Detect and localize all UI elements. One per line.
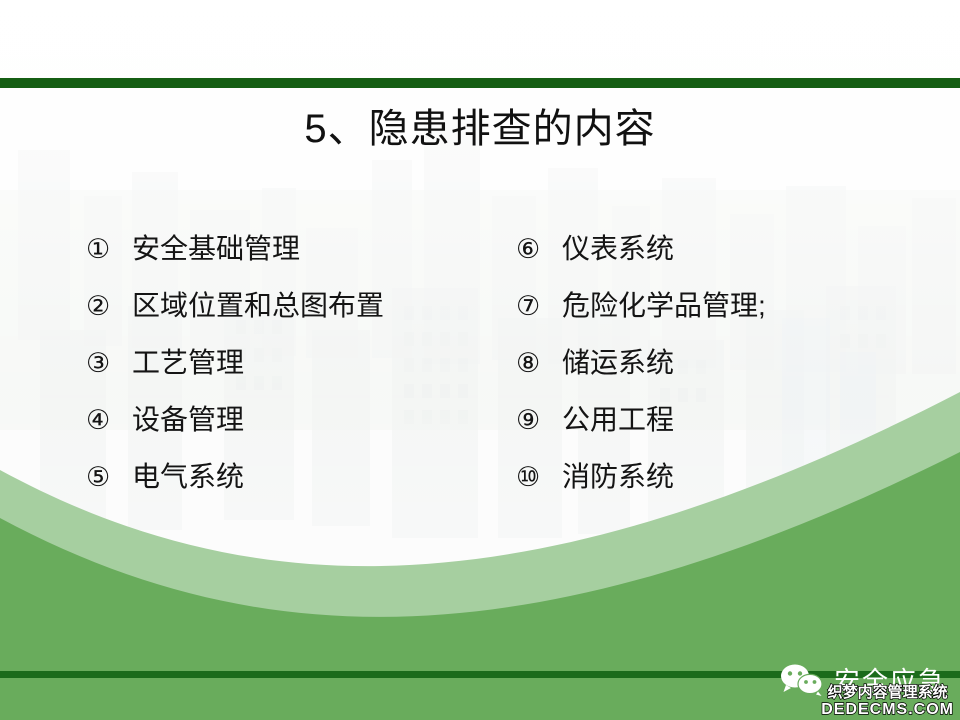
list-item: ④ 设备管理 <box>86 403 516 460</box>
list-item-label: 储运系统 <box>562 346 674 380</box>
list-item-marker: ① <box>86 232 132 266</box>
list-column-right: ⑥ 仪表系统 ⑦ 危险化学品管理; ⑧ 储运系统 ⑨ 公用工程 ⑩ 消防系统 <box>516 232 946 517</box>
list-item-label: 设备管理 <box>132 403 244 437</box>
list-item-label: 公用工程 <box>562 403 674 437</box>
list-item: ⑧ 储运系统 <box>516 346 946 403</box>
list-item-marker: ⑨ <box>516 403 562 437</box>
content-columns: ① 安全基础管理 ② 区域位置和总图布置 ③ 工艺管理 ④ 设备管理 ⑤ 电气系… <box>0 232 960 517</box>
list-item-marker: ⑧ <box>516 346 562 380</box>
list-item-label: 安全基础管理 <box>132 232 300 266</box>
top-divider-rule <box>0 78 960 88</box>
wechat-icon <box>778 663 826 697</box>
list-item-marker: ④ <box>86 403 132 437</box>
list-item-label: 仪表系统 <box>562 232 674 266</box>
list-item: ⑩ 消防系统 <box>516 460 946 517</box>
list-item: ③ 工艺管理 <box>86 346 516 403</box>
list-item-label: 危险化学品管理; <box>562 289 766 323</box>
list-item-label: 消防系统 <box>562 460 674 494</box>
list-item-label: 区域位置和总图布置 <box>132 289 384 323</box>
list-item: ② 区域位置和总图布置 <box>86 289 516 346</box>
slide-canvas: 5、隐患排查的内容 ① 安全基础管理 ② 区域位置和总图布置 ③ 工艺管理 ④ … <box>0 0 960 720</box>
list-item-marker: ⑩ <box>516 460 562 494</box>
dedecms-watermark: 织梦内容管理系统 DEDECMS.COM <box>821 685 954 718</box>
list-item: ⑦ 危险化学品管理; <box>516 289 946 346</box>
list-item-marker: ⑦ <box>516 289 562 323</box>
list-item-marker: ⑥ <box>516 232 562 266</box>
list-item-marker: ③ <box>86 346 132 380</box>
list-item-label: 工艺管理 <box>132 346 244 380</box>
watermark-chinese: 织梦内容管理系统 <box>821 685 954 700</box>
list-item: ⑥ 仪表系统 <box>516 232 946 289</box>
list-item-marker: ⑤ <box>86 460 132 494</box>
list-item: ⑤ 电气系统 <box>86 460 516 517</box>
page-title: 5、隐患排查的内容 <box>0 104 960 154</box>
list-item-marker: ② <box>86 289 132 323</box>
list-column-left: ① 安全基础管理 ② 区域位置和总图布置 ③ 工艺管理 ④ 设备管理 ⑤ 电气系… <box>86 232 516 517</box>
list-item-label: 电气系统 <box>132 460 244 494</box>
watermark-english: DEDECMS.COM <box>821 702 954 718</box>
list-item: ① 安全基础管理 <box>86 232 516 289</box>
list-item: ⑨ 公用工程 <box>516 403 946 460</box>
